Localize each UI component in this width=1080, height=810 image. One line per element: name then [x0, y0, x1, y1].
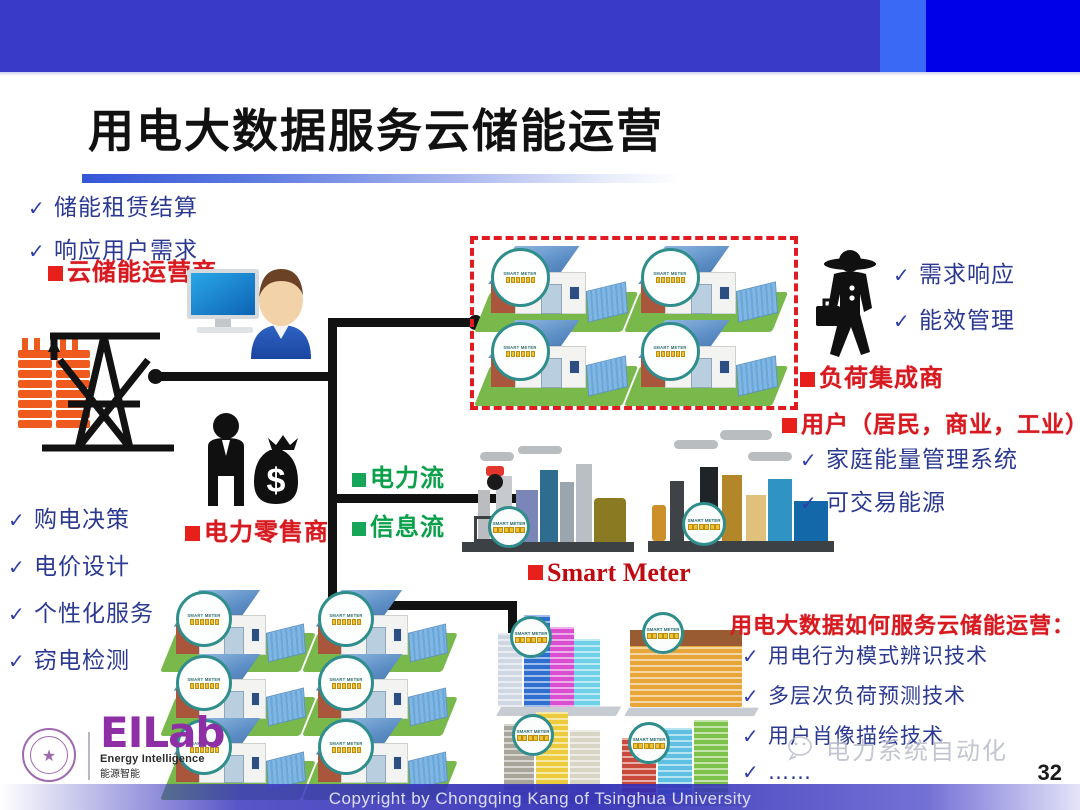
- smart-meter-digits: [515, 637, 548, 644]
- footer-copyright: Copyright by Chongqing Kang of Tsinghua …: [0, 789, 1080, 809]
- bullet-label: 用电行为模式辨识技术: [768, 640, 988, 670]
- load-aggregator-bullets: ✓ 需求响应 ✓ 能效管理: [893, 255, 1015, 335]
- window-rows: [550, 627, 574, 707]
- load-aggregator-person-icon: [808, 248, 894, 360]
- smart-meter-badge-text: SMART METER: [504, 271, 537, 276]
- building-tower: [550, 627, 574, 707]
- smart-meter-badge: SMART METER: [510, 616, 552, 658]
- smart-meter-digits: [332, 747, 362, 753]
- smart-meter-badge: SMART METER: [488, 506, 530, 548]
- big-data-heading: 用电大数据如何服务云储能运营：: [730, 608, 1075, 640]
- smart-meter-badge-text: SMART METER: [633, 737, 666, 742]
- smart-meter-badge-text: SMART METER: [330, 613, 363, 618]
- smart-meter-badge-text: SMART METER: [515, 631, 548, 636]
- bullet-label: 家庭能量管理系统: [826, 440, 1018, 474]
- transmission-tower-icon: [12, 308, 192, 473]
- page-title: 用电大数据服务云储能运营: [88, 95, 664, 161]
- title-underline: [82, 174, 682, 183]
- smart-meter-badge-text: SMART METER: [517, 729, 550, 734]
- smart-meter-badge-text: SMART METER: [493, 521, 526, 526]
- wire-tower-to-trunk: [150, 372, 336, 381]
- wire-node-tower: [148, 369, 163, 384]
- smoke-plume: [748, 452, 792, 461]
- university-seal-logo: ★: [22, 728, 76, 782]
- house-window: [393, 692, 403, 705]
- smart-meter-badge-text: SMART METER: [330, 677, 363, 682]
- plant-base: [648, 541, 834, 552]
- smoke-plume: [720, 430, 772, 440]
- square-marker-icon: [185, 526, 200, 541]
- wechat-account-name: 电力系统自动化: [826, 731, 1008, 766]
- smart-meter-heading: Smart Meter: [528, 558, 691, 588]
- bullet-label: 个性化服务: [34, 594, 154, 628]
- plant-base: [462, 542, 634, 552]
- smart-meter-digits: [332, 619, 362, 625]
- storage-tank: [652, 505, 666, 541]
- bullet-label: 需求响应: [919, 255, 1015, 289]
- smart-meter-digits: [506, 351, 536, 357]
- house-window: [719, 360, 729, 374]
- plant-structure: [768, 479, 792, 541]
- valve-icon: [482, 466, 518, 492]
- bullet-label: 可交易能源: [826, 483, 946, 517]
- header-band-left: [0, 0, 880, 72]
- smoke-plume: [518, 446, 562, 454]
- bullet-label: 窃电检测: [34, 641, 130, 675]
- house-window: [251, 756, 261, 769]
- house-window: [719, 286, 729, 300]
- smart-meter-badge-text: SMART METER: [654, 345, 687, 350]
- smart-meter-badge: SMART METER: [491, 248, 550, 307]
- industrial-plant-sprite: SMART METER: [462, 444, 634, 552]
- university-seal-text: ★: [30, 736, 68, 774]
- smart-meter-digits: [332, 683, 362, 689]
- smart-meter-digits: [190, 683, 220, 689]
- bullet-item: ✓ 多层次负荷预测技术: [742, 680, 988, 710]
- info-flow-text: 信息流: [370, 513, 445, 541]
- page-number: 32: [1038, 760, 1062, 786]
- house-sprite: SMART METER: [632, 318, 780, 406]
- power-flow-text: 电力流: [370, 464, 445, 492]
- check-icon: ✓: [742, 684, 768, 709]
- storage-tank: [594, 498, 626, 542]
- house-window: [569, 286, 579, 300]
- smart-meter-badge-text: SMART METER: [688, 518, 721, 523]
- operator-person-computer-icon: [185, 255, 320, 360]
- eilab-logo: EILab Energy Intelligence 能源智能: [100, 713, 225, 780]
- bullet-item: ✓ 家庭能量管理系统: [800, 440, 1018, 474]
- smart-meter-digits: [656, 277, 686, 283]
- bullet-label: 储能租赁结算: [54, 188, 198, 222]
- bullet-label: 电价设计: [34, 547, 130, 581]
- square-marker-icon: [800, 372, 815, 387]
- smart-meter-digits: [506, 277, 536, 283]
- bullet-item: ✓ 储能租赁结算: [28, 188, 198, 222]
- smart-meter-badge-text: SMART METER: [654, 271, 687, 276]
- smart-meter-digits: [688, 524, 721, 531]
- load-aggregator-heading: 负荷集成商: [800, 358, 944, 393]
- check-icon: ✓: [8, 555, 34, 580]
- check-icon: ✓: [893, 309, 919, 334]
- eilab-subtitle-cn: 能源智能: [100, 765, 225, 780]
- header-shadow: [0, 72, 1080, 76]
- house-window: [251, 628, 261, 641]
- smart-meter-digits: [493, 527, 526, 534]
- logo-divider: [88, 732, 90, 780]
- plant-structure: [540, 470, 558, 542]
- bullet-item: ✓ 电价设计: [8, 547, 154, 581]
- smart-meter-badge-text: SMART METER: [647, 627, 680, 632]
- smart-meter-badge: SMART METER: [642, 612, 684, 654]
- iso-building-group: SMART METER: [496, 598, 616, 716]
- smoke-plume: [480, 452, 514, 461]
- smart-meter-digits: [517, 735, 550, 742]
- bullet-item: ✓ 个性化服务: [8, 594, 154, 628]
- smart-meter-badge-text: SMART METER: [330, 741, 363, 746]
- square-marker-icon: [352, 522, 366, 536]
- building-tower: [574, 639, 600, 707]
- smart-meter-badge-text: SMART METER: [188, 677, 221, 682]
- eilab-mark: EILab: [100, 713, 225, 753]
- window-rows: [574, 639, 600, 707]
- smart-meter-badge: SMART METER: [641, 322, 700, 381]
- smart-meter-badge: SMART METER: [491, 322, 550, 381]
- bullet-label: 购电决策: [34, 500, 130, 534]
- slide-canvas: 用电大数据服务云储能运营 ✓ 储能租赁结算 ✓ 响应用户需求 云储能运营商: [0, 0, 1080, 810]
- check-icon: ✓: [742, 644, 768, 669]
- retailer-businessman-moneybag-icon: $: [196, 412, 311, 517]
- check-icon: ✓: [800, 448, 826, 473]
- bullet-label: 能效管理: [919, 301, 1015, 335]
- bullet-item: ✓ 需求响应: [893, 255, 1015, 289]
- retailer-bullets: ✓ 购电决策 ✓ 电价设计 ✓ 个性化服务 ✓ 窃电检测: [8, 500, 154, 675]
- smart-meter-badge: SMART METER: [641, 248, 700, 307]
- smart-meter-badge-text: SMART METER: [188, 613, 221, 618]
- users-bullets: ✓ 家庭能量管理系统 ✓ 可交易能源: [800, 440, 1018, 517]
- bullet-item: ✓ 用电行为模式辨识技术: [742, 640, 988, 670]
- retailer-heading-label: 电力零售商: [204, 518, 329, 546]
- plant-chimney: [670, 481, 684, 541]
- users-heading: 用户（居民，商业，工业）: [782, 405, 1080, 439]
- wire-vertical-trunk: [328, 318, 337, 610]
- check-icon: ✓: [742, 760, 768, 785]
- flow-legend: 电力流 信息流: [352, 458, 445, 542]
- smart-meter-digits: [656, 351, 686, 357]
- power-flow-label: 电力流: [352, 458, 445, 493]
- load-aggregator-heading-label: 负荷集成商: [819, 364, 944, 392]
- house-window: [393, 756, 403, 769]
- check-icon: ✓: [8, 508, 34, 533]
- square-marker-icon: [782, 418, 797, 433]
- square-marker-icon: [528, 565, 543, 580]
- plant-structure: [576, 464, 592, 542]
- smart-meter-digits: [647, 633, 680, 640]
- smart-meter-badge: SMART METER: [682, 502, 726, 546]
- svg-text:$: $: [267, 462, 286, 500]
- header-band-middle: [880, 0, 926, 72]
- users-heading-label: 用户（居民，商业，工业）: [801, 412, 1080, 438]
- check-icon: ✓: [28, 196, 54, 221]
- smart-meter-badge: SMART METER: [628, 722, 670, 764]
- bullet-item: ✓ 可交易能源: [800, 483, 1018, 517]
- smart-meter-digits: [190, 619, 220, 625]
- wire-to-houses-top: [328, 318, 478, 327]
- house-window: [569, 360, 579, 374]
- smoke-plume: [674, 440, 718, 449]
- plant-structure: [746, 495, 766, 541]
- info-flow-label: 信息流: [352, 507, 445, 542]
- check-icon: ✓: [742, 724, 768, 749]
- bullet-item: ✓ 购电决策: [8, 500, 154, 534]
- square-marker-icon: [352, 473, 366, 487]
- house-sprite: SMART METER: [482, 318, 630, 406]
- plant-structure: [560, 482, 574, 542]
- bullet-label: 多层次负荷预测技术: [768, 680, 966, 710]
- smart-meter-label: Smart Meter: [547, 558, 691, 587]
- smart-meter-badge-text: SMART METER: [504, 345, 537, 350]
- house-window: [393, 628, 403, 641]
- bullet-item: ✓ 窃电检测: [8, 641, 154, 675]
- check-icon: ✓: [8, 649, 34, 674]
- wechat-icon: [788, 736, 818, 762]
- house-window: [251, 692, 261, 705]
- check-icon: ✓: [8, 602, 34, 627]
- header-band-right: [926, 0, 1080, 72]
- smart-meter-badge: SMART METER: [512, 714, 554, 756]
- check-icon: ✓: [893, 263, 919, 288]
- square-marker-icon: [48, 266, 63, 281]
- bullet-item: ✓ 能效管理: [893, 301, 1015, 335]
- wechat-watermark: 电力系统自动化: [788, 731, 1008, 766]
- plant-structure: [722, 475, 742, 541]
- retailer-heading: 电力零售商: [185, 512, 329, 547]
- check-icon: ✓: [800, 491, 826, 516]
- smart-meter-digits: [633, 743, 666, 750]
